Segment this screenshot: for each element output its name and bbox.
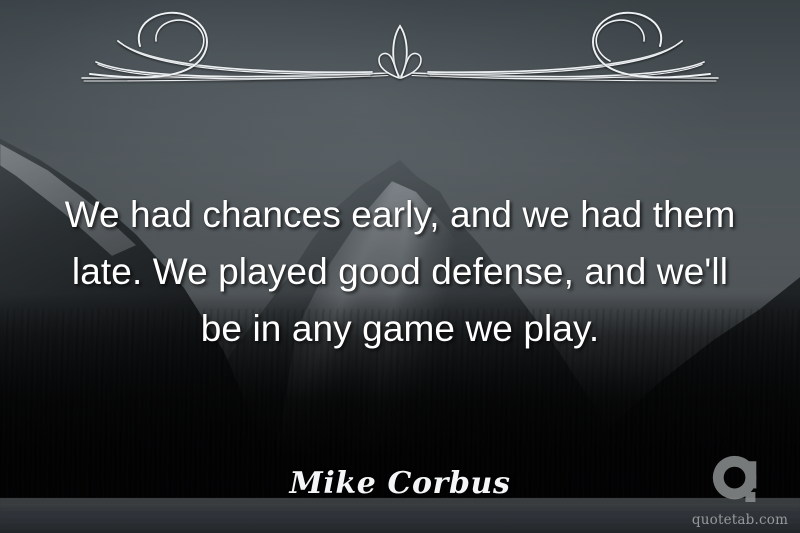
quotetab-q-logo-icon: [711, 454, 769, 512]
watermark-text: quotetab.com: [688, 514, 792, 528]
quote-text: We had chances early, and we had them la…: [62, 186, 738, 357]
background-lake-sheen: [0, 498, 800, 533]
quote-image-card: We had chances early, and we had them la…: [0, 0, 800, 533]
author-name: Mike Corbus: [0, 466, 800, 501]
flourish-divider-icon: [70, 4, 730, 96]
background-lake: [0, 498, 800, 533]
watermark[interactable]: quotetab.com: [688, 454, 792, 528]
quote-block: We had chances early, and we had them la…: [0, 186, 800, 357]
